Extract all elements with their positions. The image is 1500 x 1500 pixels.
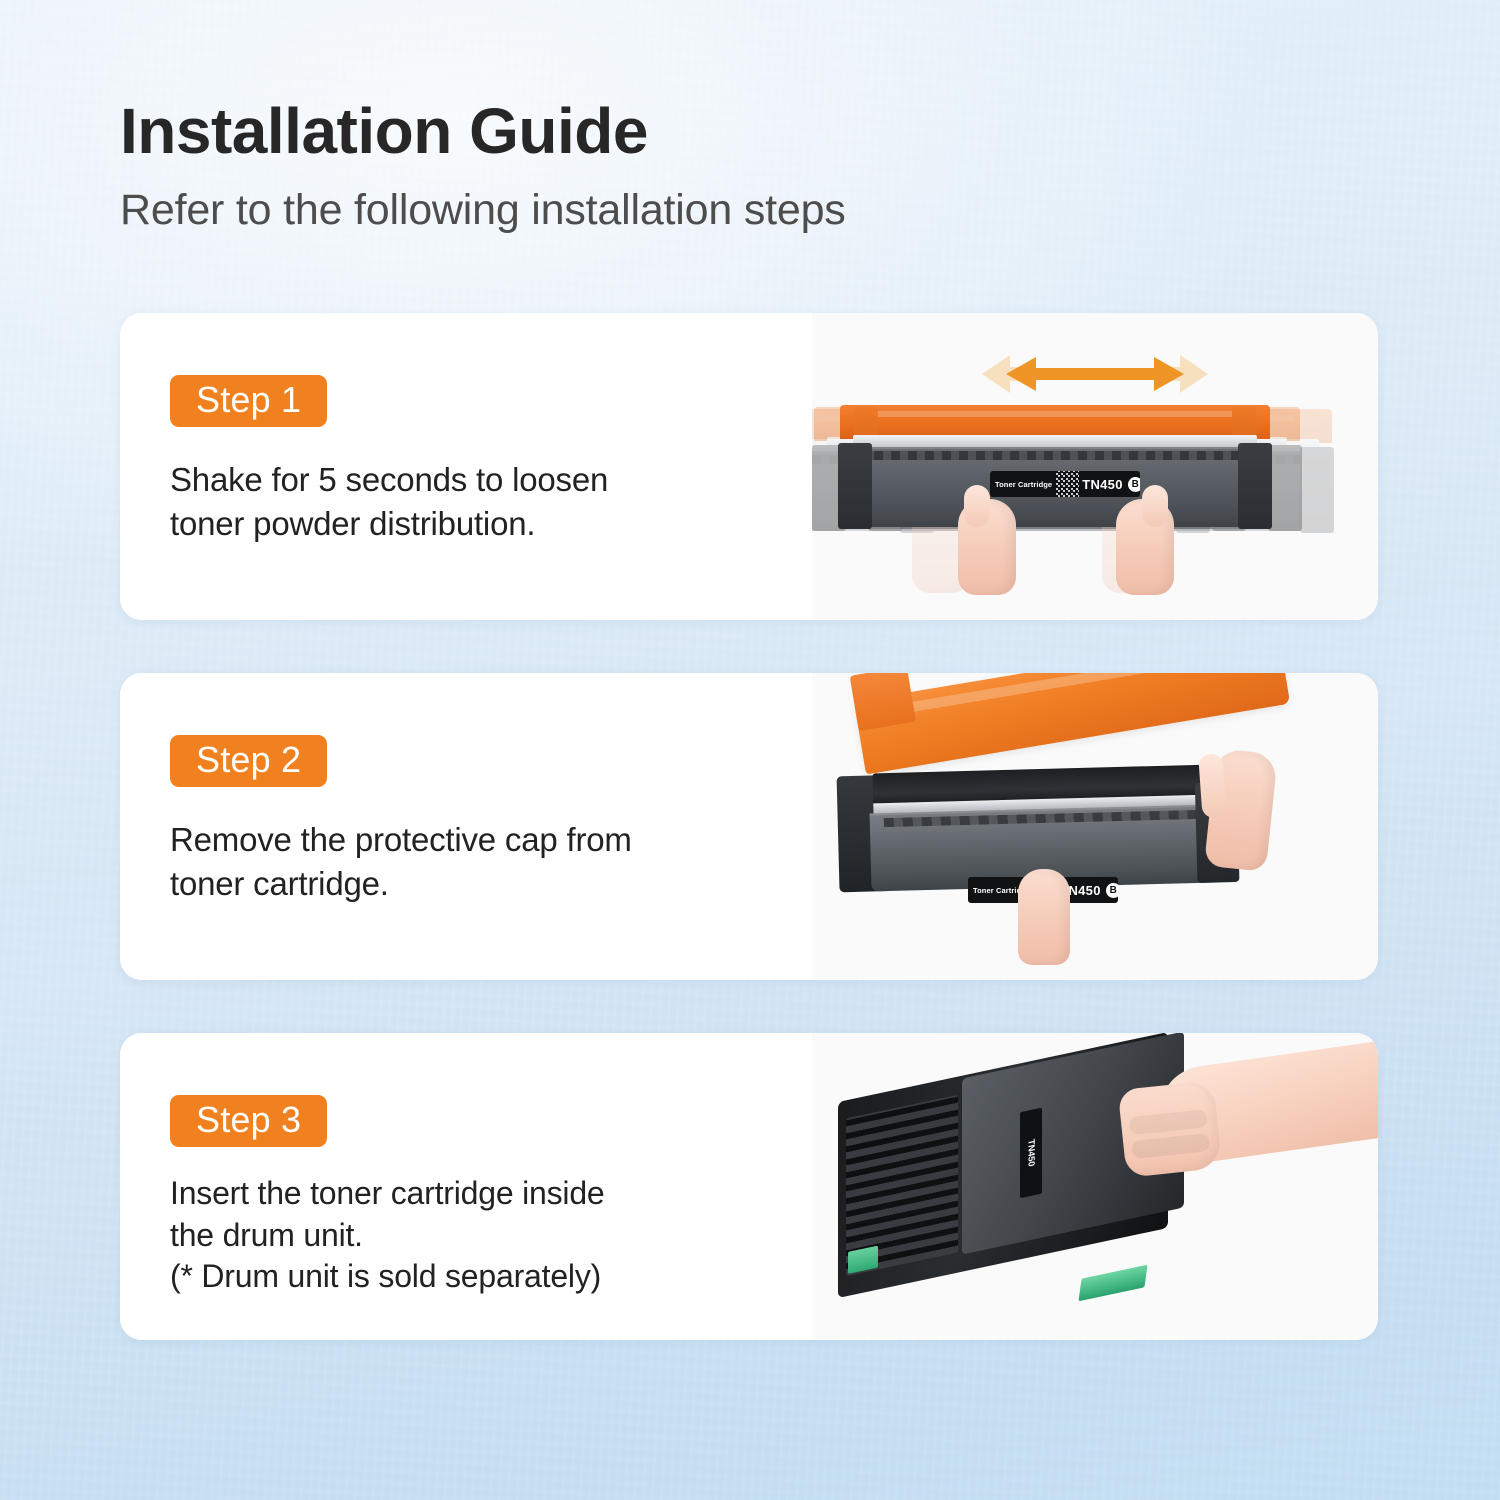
page-header: Installation Guide Refer to the followin…: [120, 98, 1360, 234]
step-2-description: Remove the protective cap from toner car…: [170, 818, 772, 906]
step-1-text-panel: Step 1 Shake for 5 seconds to loosen ton…: [120, 313, 812, 620]
step-card-2: Step 2 Remove the protective cap from to…: [120, 673, 1378, 980]
step-1-badge: Step 1: [170, 375, 327, 427]
hand-gripping-cartridge: [1118, 1080, 1223, 1178]
step-3-text-panel: Step 3 Insert the toner cartridge inside…: [120, 1033, 812, 1340]
step-2-illustration: Toner Cartridge TN450 B: [812, 673, 1378, 980]
step-3-illustration: TN450: [812, 1033, 1378, 1340]
step-card-3: Step 3 Insert the toner cartridge inside…: [120, 1033, 1378, 1340]
step-2-text-panel: Step 2 Remove the protective cap from to…: [120, 673, 812, 980]
cartridge-shake-group: Toner Cartridge TN450 B: [812, 405, 1378, 620]
cap-highlight: [881, 673, 1239, 717]
page-title: Installation Guide: [120, 98, 1360, 165]
cartridge-label-dot-gradient: [1055, 471, 1079, 497]
step-3-description: Insert the toner cartridge inside the dr…: [170, 1173, 772, 1298]
step-card-1: Step 1 Shake for 5 seconds to loosen ton…: [120, 313, 1378, 620]
cartridge-label: TN450: [1020, 1108, 1042, 1199]
thumb-pulling: [1198, 753, 1226, 819]
double-headed-horizontal-arrow-icon: [980, 351, 1210, 397]
page-subtitle: Refer to the following installation step…: [120, 187, 1360, 234]
hand-right: [1116, 499, 1174, 595]
cartridge-label-black-badge: B: [1106, 883, 1118, 898]
cartridge-label-model: TN450: [1026, 1138, 1036, 1167]
hand-left: [958, 499, 1016, 595]
cartridge-orange-cap: [840, 405, 1270, 439]
thumb-left: [964, 485, 990, 527]
hand-pulling-cap: [1204, 748, 1278, 872]
cartridge-label-model: TN450: [1082, 477, 1123, 492]
step-1-illustration: Toner Cartridge TN450 B: [812, 313, 1378, 620]
drum-unit-green-lever-right: [1078, 1265, 1147, 1302]
step-1-description: Shake for 5 seconds to loosen toner powd…: [170, 458, 772, 546]
step-2-badge: Step 2: [170, 735, 327, 787]
cartridge-label-name: Toner Cartridge: [995, 480, 1052, 489]
cartridge-endcap-left: [838, 443, 872, 529]
installation-guide-page: Installation Guide Refer to the followin…: [0, 0, 1500, 1500]
step-3-badge: Step 3: [170, 1095, 327, 1147]
cartridge-label-black-badge: B: [1128, 477, 1140, 492]
steps-list: Step 1 Shake for 5 seconds to loosen ton…: [120, 313, 1378, 1340]
thumb-right: [1142, 485, 1168, 527]
cartridge-label: Toner Cartridge TN450 B: [990, 471, 1140, 497]
cartridge-endcap-right: [1238, 443, 1272, 529]
hand-supporting: [1018, 869, 1070, 965]
toner-cartridge: Toner Cartridge TN450 B: [840, 405, 1270, 537]
